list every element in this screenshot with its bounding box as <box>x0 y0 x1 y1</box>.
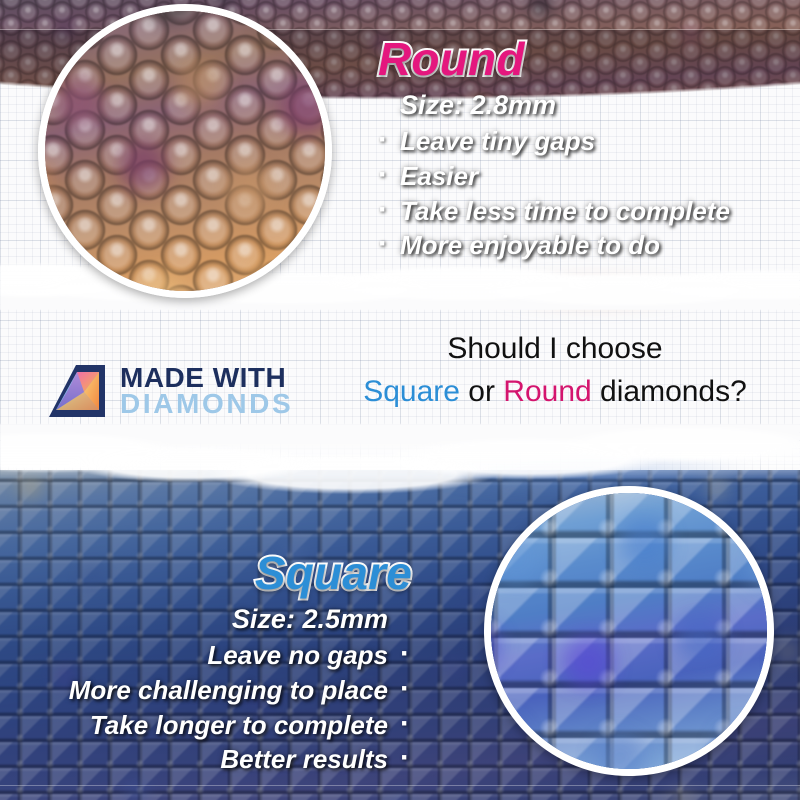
headline-line-1: Should I choose <box>330 328 780 371</box>
brand-wordmark: MADE WITH DIAMONDS <box>120 365 293 417</box>
headline-suffix: diamonds? <box>592 375 747 408</box>
square-drill-magnifier-inset <box>484 486 774 776</box>
square-title: Square <box>69 550 412 596</box>
square-bullet-item: More challenging to place <box>69 673 412 708</box>
headline-conjunction: or <box>460 375 503 408</box>
round-title: Round <box>378 36 788 82</box>
diamond-gem-icon <box>46 362 108 420</box>
brand-logo[interactable]: MADE WITH DIAMONDS <box>46 362 293 420</box>
square-bullet-list: Leave no gaps More challenging to place … <box>69 638 412 777</box>
middle-band: MADE WITH DIAMONDS Should I choose Squar… <box>0 300 800 470</box>
square-photo-bottom-rule <box>0 785 800 786</box>
round-size-line: Size: 2.8mm <box>378 90 788 122</box>
round-lens-content <box>45 11 325 291</box>
headline-line-2: Square or Round diamonds? <box>330 371 780 414</box>
round-bullet-item: More enjoyable to do <box>378 228 788 263</box>
round-info-panel: Round Size: 2.8mm Leave tiny gaps Easier… <box>378 36 788 263</box>
headline-question: Should I choose Square or Round diamonds… <box>330 328 780 413</box>
round-bullet-list: Leave tiny gaps Easier Take less time to… <box>378 124 788 263</box>
round-drill-magnifier-inset <box>38 4 332 298</box>
square-lens-colour-blobs <box>484 486 774 776</box>
square-info-panel: Square Size: 2.5mm Leave no gaps More ch… <box>69 550 412 777</box>
round-bullet-item: Easier <box>378 159 788 194</box>
headline-word-square: Square <box>363 375 460 408</box>
square-bullet-item: Take longer to complete <box>69 708 412 743</box>
headline-word-round: Round <box>503 375 591 408</box>
brand-line-diamonds: DIAMONDS <box>120 391 293 417</box>
square-bullet-item: Leave no gaps <box>69 638 412 673</box>
square-bullet-item: Better results <box>69 742 412 777</box>
square-lens-content <box>491 493 767 769</box>
square-size-line: Size: 2.5mm <box>69 604 412 636</box>
round-bullet-item: Take less time to complete <box>378 194 788 229</box>
round-lens-colour-blobs <box>38 4 332 298</box>
infographic-canvas: Round Size: 2.8mm Leave tiny gaps Easier… <box>0 0 800 800</box>
round-bullet-item: Leave tiny gaps <box>378 124 788 159</box>
